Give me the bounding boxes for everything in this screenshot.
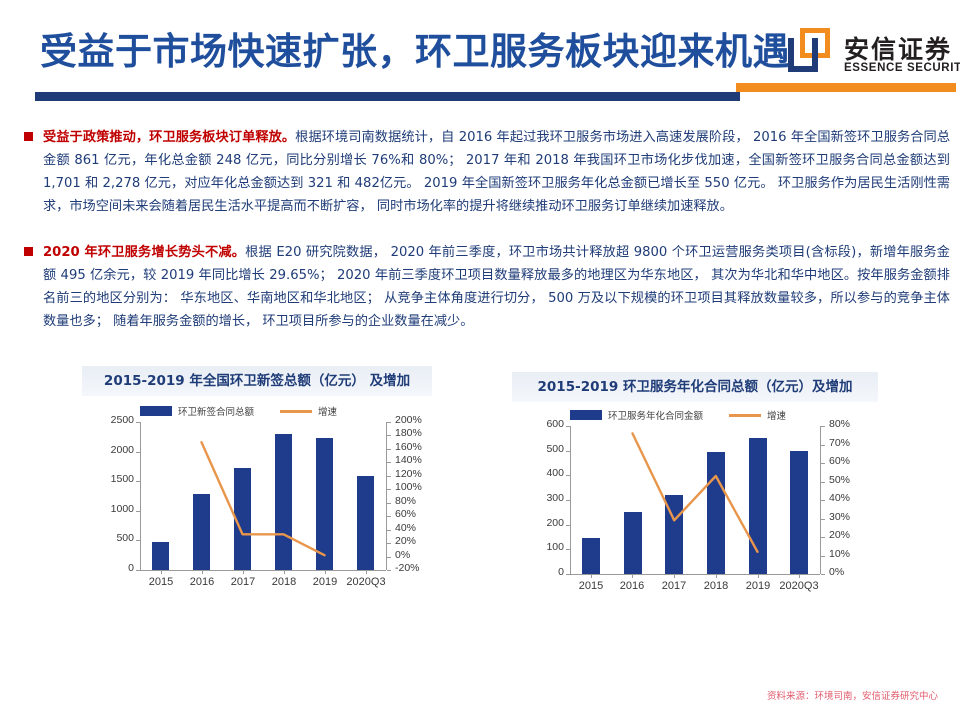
x-tick: [243, 570, 244, 574]
y-tick-right: [821, 482, 825, 483]
y-axis-right-tick-label: 120%: [395, 468, 445, 480]
y-tick-left: [136, 481, 140, 482]
y-axis-left-tick-label: 600: [518, 418, 564, 430]
x-tick: [591, 574, 592, 578]
y-tick-right: [387, 435, 391, 436]
y-tick-right: [387, 570, 391, 571]
growth-line-path: [633, 433, 758, 551]
y-tick-right: [387, 476, 391, 477]
bar: [275, 434, 292, 570]
y-tick-right: [821, 519, 825, 520]
bar: [234, 468, 251, 570]
brand-logo: 安信证券 ESSENCE SECURITIES: [786, 28, 956, 86]
y-tick-left: [566, 475, 570, 476]
y-axis-left-tick-label: 1500: [88, 473, 134, 485]
y-axis-right: [386, 422, 387, 570]
y-axis-right-tick-label: 40%: [829, 492, 879, 504]
y-axis-right-tick-label: 60%: [395, 508, 445, 520]
chart-panel-left: 2015-2019 年全国环卫新签总额（亿元） 及增加 环卫新签合同总额 增速 …: [82, 366, 432, 606]
y-axis-left-tick-label: 2000: [88, 444, 134, 456]
y-axis-left-tick-label: 500: [518, 443, 564, 455]
y-axis-left-tick-label: 500: [88, 532, 134, 544]
y-axis-right-tick-label: 80%: [829, 418, 879, 430]
y-tick-left: [136, 452, 140, 453]
growth-line-series: [82, 396, 432, 606]
x-tick: [632, 574, 633, 578]
y-tick-left: [566, 574, 570, 575]
y-axis-left-tick-label: 100: [518, 541, 564, 553]
y-axis-right-tick-label: 200%: [395, 414, 445, 426]
x-axis: [140, 570, 386, 571]
growth-line-series: [512, 402, 878, 608]
y-tick-right: [821, 445, 825, 446]
bar: [624, 512, 642, 574]
y-axis-right-tick-label: 30%: [829, 511, 879, 523]
y-tick-right: [387, 543, 391, 544]
x-tick: [284, 570, 285, 574]
y-tick-right: [821, 556, 825, 557]
logo-navy-bracket-icon: [788, 38, 818, 72]
growth-line-path: [202, 442, 325, 555]
y-tick-left: [136, 511, 140, 512]
page-title: 受益于市场快速扩张，环卫服务板块迎来机遇: [40, 30, 790, 74]
paragraph-2-lead: 2020 年环卫服务增长势头不减。: [43, 245, 245, 260]
y-axis-left-tick-label: 200: [518, 517, 564, 529]
y-tick-right: [821, 537, 825, 538]
slide-header: 受益于市场快速扩张，环卫服务板块迎来机遇 安信证券 ESSENCE SECURI…: [0, 0, 960, 108]
x-tick: [366, 570, 367, 574]
chart-right-body: 环卫服务年化合同金额 增速 01002003004005006000%10%20…: [512, 402, 878, 608]
x-tick: [161, 570, 162, 574]
chart-left-body: 环卫新签合同总额 增速 05001000150020002500-20%0%20…: [82, 396, 432, 606]
y-axis-right-tick-label: 0%: [395, 549, 445, 561]
y-tick-left: [136, 570, 140, 571]
y-axis-right-tick-label: 20%: [829, 529, 879, 541]
y-axis-right-tick-label: 40%: [395, 522, 445, 534]
y-tick-left: [566, 426, 570, 427]
y-tick-right: [387, 503, 391, 504]
x-axis: [570, 574, 820, 575]
y-axis-right-tick-label: 20%: [395, 535, 445, 547]
y-tick-right: [821, 500, 825, 501]
bar: [316, 438, 333, 570]
y-tick-left: [136, 422, 140, 423]
x-tick: [674, 574, 675, 578]
y-axis-right-tick-label: 10%: [829, 548, 879, 560]
y-tick-left: [566, 549, 570, 550]
y-axis-right-tick-label: 80%: [395, 495, 445, 507]
chart-left-plot: 05001000150020002500-20%0%20%40%60%80%10…: [82, 396, 432, 606]
x-tick: [716, 574, 717, 578]
y-axis-right-tick-label: 160%: [395, 441, 445, 453]
y-axis-left-tick-label: 400: [518, 467, 564, 479]
bar: [582, 538, 600, 574]
chart-right-title: 2015-2019 环卫服务年化合同总额（亿元）及增加: [512, 372, 878, 404]
logo-mark-icon: [786, 28, 834, 76]
y-tick-right: [387, 530, 391, 531]
bar: [193, 494, 210, 570]
y-axis-right-tick-label: 100%: [395, 481, 445, 493]
y-tick-right: [387, 422, 391, 423]
bullet-square-icon: [24, 247, 33, 256]
header-rule-navy: [35, 92, 740, 101]
y-axis-left-tick-label: 1000: [88, 503, 134, 515]
y-tick-right: [387, 557, 391, 558]
body-paragraph-1: 受益于政策推动，环卫服务板块订单释放。根据环境司南数据统计，自 2016 年起过…: [24, 126, 950, 218]
y-tick-left: [566, 525, 570, 526]
bar: [665, 495, 683, 574]
y-axis-left-tick-label: 0: [518, 566, 564, 578]
bar: [152, 542, 169, 570]
y-tick-right: [821, 463, 825, 464]
paragraph-1-lead: 受益于政策推动，环卫服务板块订单释放。: [43, 130, 295, 145]
y-axis-left: [570, 426, 571, 574]
bar: [749, 438, 767, 574]
y-tick-right: [387, 489, 391, 490]
y-tick-right: [387, 516, 391, 517]
bar: [357, 476, 374, 570]
x-tick: [202, 570, 203, 574]
x-axis-tick-label: 2020Q3: [763, 580, 835, 592]
y-tick-right: [387, 449, 391, 450]
y-tick-right: [387, 462, 391, 463]
x-tick: [758, 574, 759, 578]
x-axis-tick-label: 2020Q3: [330, 576, 402, 588]
y-axis-right-tick-label: 0%: [829, 566, 879, 578]
y-axis-right-tick-label: -20%: [395, 562, 445, 574]
bar: [790, 451, 808, 574]
y-tick-left: [136, 540, 140, 541]
y-tick-left: [566, 451, 570, 452]
y-axis-left-tick-label: 300: [518, 492, 564, 504]
y-axis-right-tick-label: 70%: [829, 437, 879, 449]
x-tick: [799, 574, 800, 578]
y-tick-left: [566, 500, 570, 501]
bar: [707, 452, 725, 574]
paragraph-2-text: 2020 年环卫服务增长势头不减。根据 E20 研究院数据， 2020 年前三季…: [43, 241, 950, 333]
y-axis-right-tick-label: 60%: [829, 455, 879, 467]
chart-left-title: 2015-2019 年全国环卫新签总额（亿元） 及增加: [82, 366, 432, 398]
y-axis-left: [140, 422, 141, 570]
body-paragraph-2: 2020 年环卫服务增长势头不减。根据 E20 研究院数据， 2020 年前三季…: [24, 241, 950, 333]
paragraph-1-text: 受益于政策推动，环卫服务板块订单释放。根据环境司南数据统计，自 2016 年起过…: [43, 126, 950, 218]
bullet-square-icon: [24, 132, 33, 141]
y-axis-left-tick-label: 0: [88, 562, 134, 574]
slide-root: 受益于市场快速扩张，环卫服务板块迎来机遇 安信证券 ESSENCE SECURI…: [0, 0, 960, 720]
chart-panel-right: 2015-2019 环卫服务年化合同总额（亿元）及增加 环卫服务年化合同金额 增…: [512, 372, 878, 608]
y-axis-right-tick-label: 50%: [829, 474, 879, 486]
logo-text-en: ESSENCE SECURITIES: [844, 62, 960, 74]
chart-right-plot: 01002003004005006000%10%20%30%40%50%60%7…: [512, 402, 878, 608]
y-tick-right: [821, 574, 825, 575]
y-tick-right: [821, 426, 825, 427]
logo-text-cn: 安信证券: [844, 30, 952, 66]
y-axis-right-tick-label: 140%: [395, 454, 445, 466]
x-tick: [325, 570, 326, 574]
y-axis-left-tick-label: 2500: [88, 414, 134, 426]
source-note: 资料来源：环境司南，安信证券研究中心: [767, 688, 938, 702]
y-axis-right-tick-label: 180%: [395, 427, 445, 439]
